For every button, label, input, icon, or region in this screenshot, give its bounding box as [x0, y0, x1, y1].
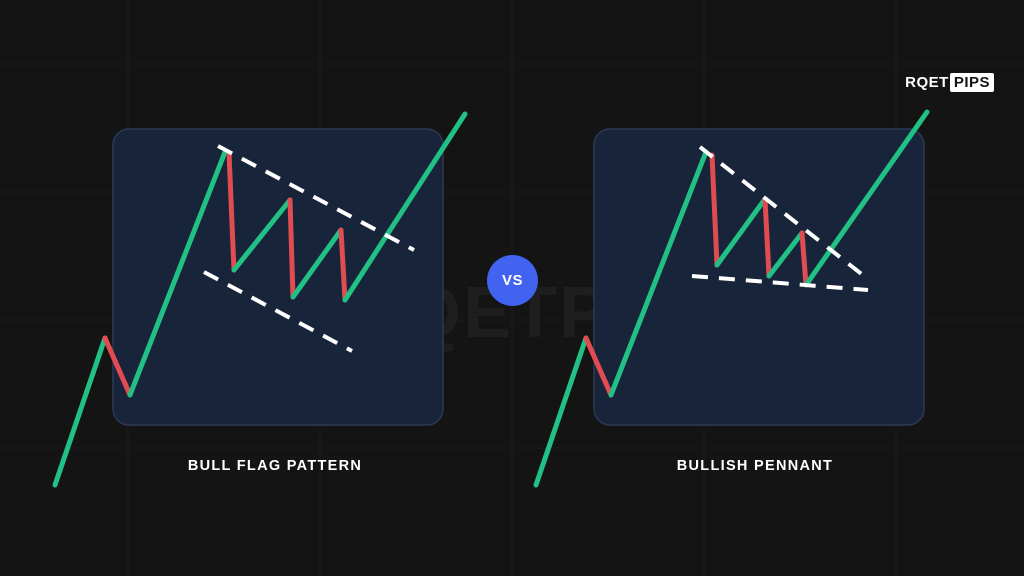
brand-text-roqet: R: [905, 74, 916, 91]
brand-logo: ROQETPIPSRQETPIPS: [905, 74, 994, 91]
brand-text-pips: PIPS: [950, 73, 994, 92]
diagram-canvas: ROQETPIPS ROQETPIPSRQETPIPS VS B: [0, 0, 1024, 576]
bull-flag-pre-trend-up: [55, 338, 105, 485]
pennant-pre-trend-up: [536, 338, 586, 485]
panel-bullish-pennant-box: [594, 129, 924, 425]
panel-label-bullish-pennant: BULLISH PENNANT: [590, 458, 920, 474]
vs-badge: VS: [487, 255, 538, 306]
panel-label-bull-flag: BULL FLAG PATTERN: [110, 458, 440, 474]
brand-text-oqet: QET: [916, 74, 948, 91]
bull-flag-consolidation-down-2: [290, 200, 293, 297]
panel-bull-flag-box: [113, 129, 443, 425]
